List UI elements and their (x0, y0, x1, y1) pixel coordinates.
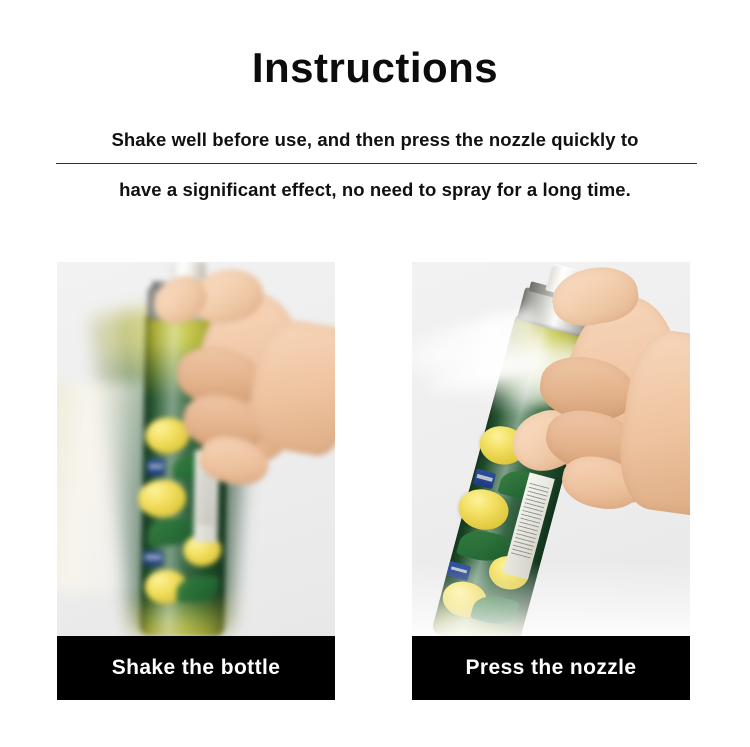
instruction-line-1: Shake well before use, and then press th… (0, 129, 750, 151)
page-title: Instructions (0, 44, 750, 92)
scene-floor-gradient (412, 562, 690, 636)
illustration-hand-shaking-spray-can (57, 262, 335, 636)
caption-press-the-nozzle: Press the nozzle (412, 636, 690, 700)
can-badge (147, 459, 165, 475)
instruction-line-2: have a significant effect, no need to sp… (0, 179, 750, 201)
caption-shake-the-bottle: Shake the bottle (57, 636, 335, 700)
header-divider (56, 163, 697, 164)
can-badge (143, 551, 163, 565)
step-panel-press: Press the nozzle (412, 262, 690, 700)
illustration-hand-pressing-nozzle (412, 262, 690, 636)
step-panel-shake: Shake the bottle (57, 262, 335, 700)
instructions-page: Instructions Shake well before use, and … (0, 0, 750, 747)
